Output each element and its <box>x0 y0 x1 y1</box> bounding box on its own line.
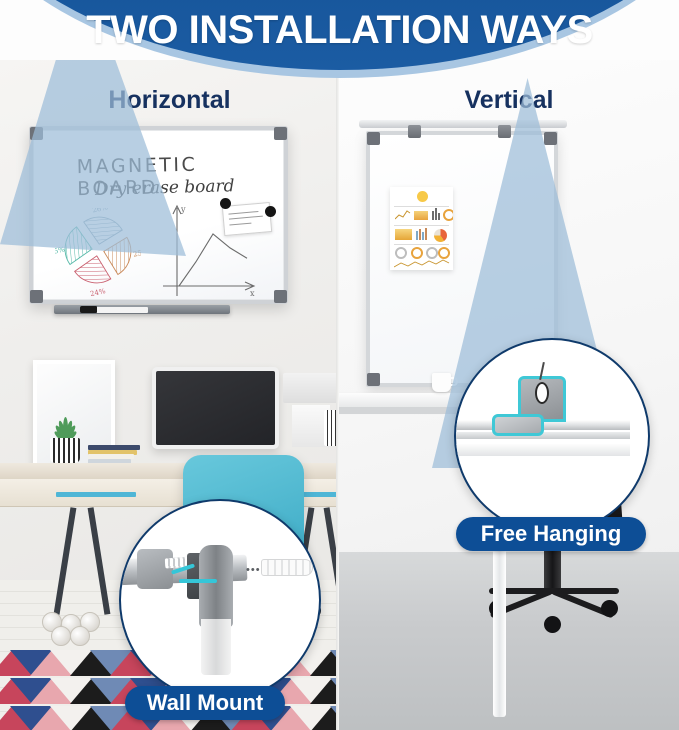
corner-bracket <box>367 373 380 386</box>
panel-vertical: Vertical <box>339 60 679 730</box>
poster-wave-chart <box>394 259 450 269</box>
corner-bracket <box>30 290 43 303</box>
callout-label-wall-mount: Wall Mount <box>125 686 285 720</box>
monitor-screen <box>156 371 275 445</box>
graph-y-label: y <box>180 205 186 214</box>
mount-bracket-block <box>137 549 173 589</box>
paper-tube <box>51 626 71 646</box>
book-stack <box>88 445 140 463</box>
magnifier-circle-free-hanging <box>454 338 650 534</box>
shelf-box <box>283 373 339 403</box>
paper-tubes <box>42 612 106 638</box>
sun-circle-icon <box>417 191 428 202</box>
desk-accent-strip <box>56 492 136 497</box>
office-chair-cylinder <box>544 545 561 593</box>
page-title: TWO INSTALLATION WAYS <box>0 10 679 50</box>
svg-text:24%: 24% <box>89 287 106 296</box>
infographic-poster <box>390 187 453 270</box>
rug-triangle <box>330 678 339 704</box>
poster-donut-chart <box>443 209 453 221</box>
subtitle-vertical: Vertical <box>339 86 679 115</box>
poster-area-chart <box>414 211 428 220</box>
board-clip <box>408 125 421 138</box>
direction-arrow-icon <box>179 579 217 583</box>
hook-ring-icon <box>535 382 549 404</box>
poster-area-chart <box>395 229 412 240</box>
wall-anchor-icon <box>261 559 313 576</box>
poster-line-chart <box>395 209 411 221</box>
wall-monitor <box>152 367 279 449</box>
pen-cup <box>324 410 339 446</box>
panel-container: Horizontal MAGNETIC BOARD Dry erase boar… <box>0 60 679 730</box>
corner-bracket <box>274 290 287 303</box>
callout-label-free-hanging: Free Hanging <box>456 517 646 551</box>
hook-bracket-icon <box>492 414 544 436</box>
corner-bracket <box>367 132 380 145</box>
header-banner: TWO INSTALLATION WAYS <box>0 0 679 86</box>
magnet-dot <box>265 206 276 217</box>
mount-post <box>199 545 233 627</box>
ellipsis-icon: ••• <box>246 564 261 576</box>
rug-triangle <box>330 650 339 676</box>
plant-pot <box>50 438 80 463</box>
chair-caster <box>601 600 618 617</box>
poster-pie-chart <box>434 229 447 242</box>
paper-tube <box>70 626 90 646</box>
panel-horizontal: Horizontal MAGNETIC BOARD Dry erase boar… <box>0 60 339 730</box>
chair-caster <box>544 616 561 633</box>
corner-bracket <box>274 127 287 140</box>
magnet-dot <box>220 198 231 209</box>
corner-bracket <box>544 132 557 145</box>
rug-triangle <box>330 706 339 730</box>
marker-tray <box>54 305 230 314</box>
potted-plant-leaves <box>48 408 82 441</box>
floor-right <box>339 552 679 730</box>
magnifier-circle-wall-mount: ••• <box>119 499 321 701</box>
infographic-page: TWO INSTALLATION WAYS Horizontal MAGNETI… <box>0 0 679 730</box>
whiteboard-marker <box>96 307 148 313</box>
coffee-mug <box>432 373 451 392</box>
hanging-rail <box>454 444 630 456</box>
mount-post-lower <box>201 619 231 675</box>
graph-x-label: x <box>250 289 255 298</box>
board-clip <box>498 125 511 138</box>
